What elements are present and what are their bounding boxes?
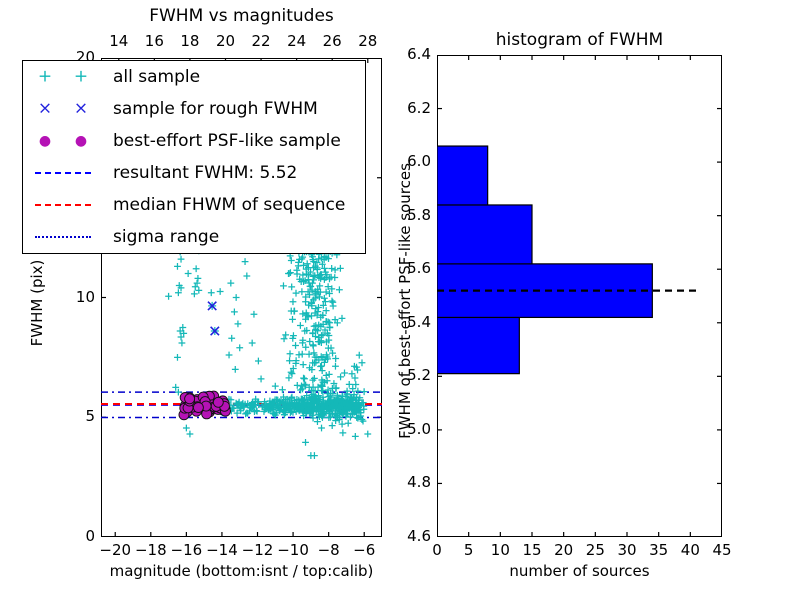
legend-entry: ●●best-effort PSF-like sample <box>23 125 365 157</box>
scatter-xtick-0: −20 <box>95 541 135 559</box>
scatter-ytick-1: 5 <box>55 407 95 425</box>
histogram-plot-frame <box>437 55 722 537</box>
scatter-xtick-7: −6 <box>344 541 384 559</box>
histogram-xtick-9: 45 <box>702 541 742 559</box>
legend-dashed-line-icon <box>35 204 91 206</box>
scatter-ytick-0: 0 <box>55 527 95 545</box>
scatter-xtick-4: −12 <box>238 541 278 559</box>
legend-entry: median FHWM of sequence <box>23 189 365 221</box>
scatter-xtick-2: −16 <box>166 541 206 559</box>
scatter-ytick-2: 10 <box>55 288 95 306</box>
legend-marker-circle-icon: ● <box>75 134 87 148</box>
scatter-toptick-0: 14 <box>99 32 139 50</box>
histogram-title: histogram of FWHM <box>437 30 722 50</box>
legend-label: sigma range <box>113 227 219 247</box>
figure-canvas: FWHM vs magnitudes 1416182022242628 −20−… <box>0 0 800 600</box>
scatter-xaxis-label: magnitude (bottom:isnt / top:calib) <box>101 562 382 580</box>
scatter-toptick-2: 18 <box>170 32 210 50</box>
legend-label: sample for rough FWHM <box>113 99 318 119</box>
legend: ++all sample××sample for rough FWHM●●bes… <box>22 60 366 254</box>
histogram-xaxis-label: number of sources <box>437 562 722 580</box>
legend-label: best-effort PSF-like sample <box>113 131 341 151</box>
legend-entry: ××sample for rough FWHM <box>23 93 365 125</box>
scatter-toptick-3: 20 <box>205 32 245 50</box>
scatter-xtick-1: −18 <box>131 541 171 559</box>
scatter-toptick-1: 16 <box>134 32 174 50</box>
legend-marker-cross-icon: × <box>74 101 88 118</box>
scatter-title: FWHM vs magnitudes <box>101 6 382 26</box>
legend-entry: ++all sample <box>23 61 365 93</box>
scatter-toptick-6: 26 <box>312 32 352 50</box>
legend-label: median FHWM of sequence <box>113 195 345 215</box>
legend-label: resultant FWHM: 5.52 <box>113 163 297 183</box>
legend-marker-circle-icon: ● <box>39 134 51 148</box>
scatter-toptick-5: 24 <box>277 32 317 50</box>
histogram-yaxis-label: FWHM of best-effort PSF-like sources <box>396 66 414 536</box>
scatter-xtick-6: −8 <box>309 541 349 559</box>
legend-marker-cross-icon: × <box>38 101 52 118</box>
legend-marker-plus-icon: + <box>74 69 88 86</box>
histogram-ytick-9: 6.4 <box>389 45 431 63</box>
scatter-xtick-5: −10 <box>273 541 313 559</box>
legend-dashdot-line-icon <box>35 236 91 238</box>
legend-entry: resultant FWHM: 5.52 <box>23 157 365 189</box>
scatter-xtick-3: −14 <box>202 541 242 559</box>
legend-entry: sigma range <box>23 221 365 253</box>
legend-dashed-line-icon <box>35 172 91 174</box>
scatter-toptick-7: 28 <box>348 32 388 50</box>
scatter-toptick-4: 22 <box>241 32 281 50</box>
legend-label: all sample <box>113 67 200 87</box>
legend-marker-plus-icon: + <box>38 69 52 86</box>
